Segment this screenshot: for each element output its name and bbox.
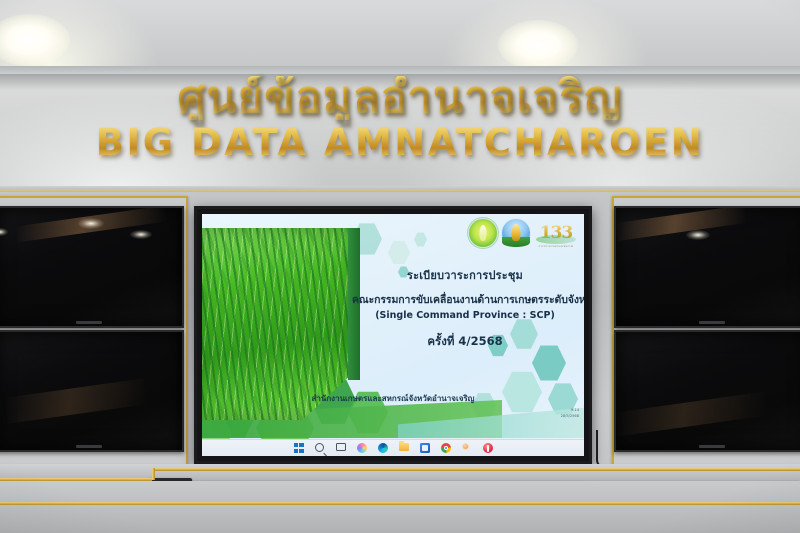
light-reflection xyxy=(78,218,104,229)
emblem-row: 133 กระทรวงเกษตรและสหกรณ์ xyxy=(468,218,578,248)
display-screen[interactable]: 133 กระทรวงเกษตรและสหกรณ์ ระเบียบวาระการ… xyxy=(202,214,584,456)
right-monitor-bottom[interactable] xyxy=(614,330,800,452)
anniversary-133-logo: 133 กระทรวงเกษตรและสหกรณ์ xyxy=(534,218,578,248)
anniversary-caption: กระทรวงเกษตรและสหกรณ์ xyxy=(534,245,578,249)
presentation-slide: 133 กระทรวงเกษตรและสหกรณ์ ระเบียบวาระการ… xyxy=(202,214,584,456)
slide-committee-name: คณะกรรมการขับเคลื่อนงานด้านการเกษตรระดับ… xyxy=(352,291,578,308)
reflection-streak xyxy=(615,392,767,437)
center-display[interactable]: 133 กระทรวงเกษตรและสหกรณ์ ระเบียบวาระการ… xyxy=(194,206,592,464)
clock-date: 28/5/2568 xyxy=(561,414,579,419)
wall-sign-english-title: BIG DATA AMNATCHAROEN xyxy=(0,124,800,163)
meeting-room-scene: ศูนย์ข้อมูลอำนาจเจริญ BIG DATA AMNATCHAR… xyxy=(0,0,800,533)
light-reflection xyxy=(686,230,710,240)
logo-swoosh xyxy=(536,235,576,244)
search-icon[interactable] xyxy=(315,443,325,453)
slide-session-number: ครั้งที่ 4/2568 xyxy=(352,333,578,351)
right-monitor-top[interactable] xyxy=(614,206,800,328)
light-reflection xyxy=(130,230,152,239)
edge-icon[interactable] xyxy=(378,443,388,453)
gold-rail-upper-right xyxy=(152,468,800,471)
monitor-brand-mark xyxy=(699,445,725,448)
left-monitor-bottom[interactable] xyxy=(0,330,184,452)
gold-rail-connector xyxy=(152,468,155,480)
ministry-of-agriculture-seal xyxy=(468,218,498,248)
right-monitor-stack xyxy=(612,196,800,468)
office-app-icon[interactable] xyxy=(420,443,430,453)
reflection-streak xyxy=(615,206,746,241)
media-app-icon[interactable] xyxy=(483,443,493,453)
slide-committee-name-en: (Single Command Province : SCP) xyxy=(352,310,578,321)
widgets-icon[interactable] xyxy=(357,443,367,453)
file-explorer-icon[interactable] xyxy=(399,443,409,453)
left-monitor-stack xyxy=(0,196,188,468)
slide-text-block: ระเบียบวาระการประชุม คณะกรรมการขับเคลื่อ… xyxy=(352,266,578,351)
amnat-charoen-province-seal xyxy=(501,218,531,248)
monitor-brand-mark xyxy=(76,445,102,448)
decor-hexagon xyxy=(388,240,410,265)
start-button[interactable] xyxy=(294,443,304,453)
display-cable xyxy=(596,430,618,468)
desktop-clock: 9:14 28/5/2568 xyxy=(561,408,579,419)
slide-footer-organization: สำนักงานเกษตรและสหกรณ์จังหวัดอำนาจเจริญ xyxy=(202,392,584,405)
slide-heading: ระเบียบวาระการประชุม xyxy=(352,266,578,284)
baseboard-panel xyxy=(0,505,800,533)
windows-taskbar[interactable] xyxy=(202,439,584,456)
ceiling-downlight-right xyxy=(498,20,578,70)
wall-sign-thai-title: ศูนย์ข้อมูลอำนาจเจริญ xyxy=(0,76,800,120)
monitor-brand-mark xyxy=(76,321,102,324)
settings-icon[interactable] xyxy=(462,443,472,453)
decor-hexagon xyxy=(414,232,427,247)
light-reflection xyxy=(0,228,8,236)
chrome-icon[interactable] xyxy=(441,443,451,453)
left-monitor-top[interactable] xyxy=(0,206,184,328)
wall-sign: ศูนย์ข้อมูลอำนาจเจริญ BIG DATA AMNATCHAR… xyxy=(0,76,800,163)
slide-content: 133 กระทรวงเกษตรและสหกรณ์ ระเบียบวาระการ… xyxy=(202,214,584,439)
task-view-icon[interactable] xyxy=(336,443,346,453)
seal-buddha-figure xyxy=(512,224,521,241)
reflection-streak xyxy=(5,378,147,423)
lower-wall-panel xyxy=(0,481,800,502)
monitor-brand-mark xyxy=(699,321,725,324)
